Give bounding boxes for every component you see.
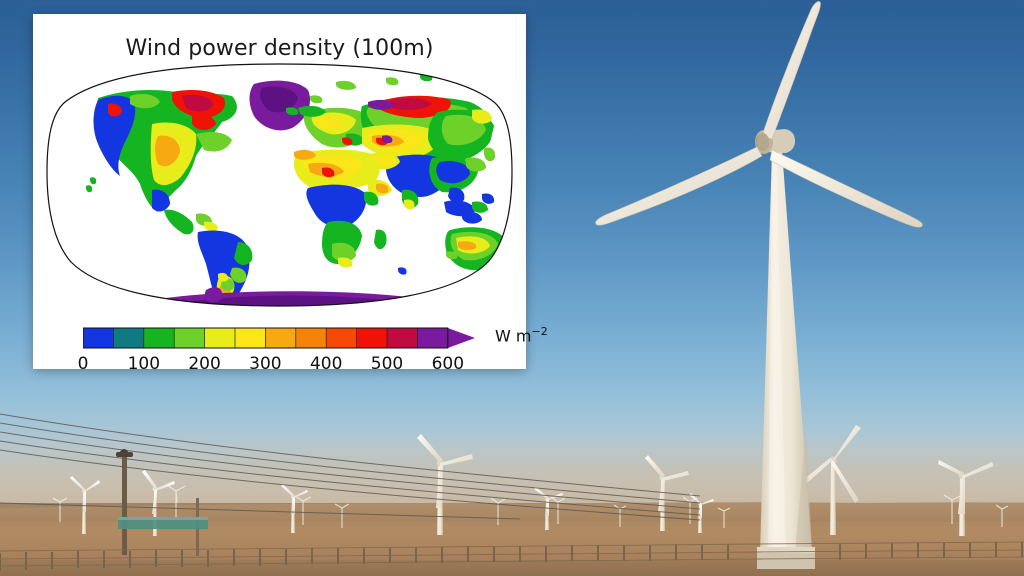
colorbar-tick-100: 100 [128, 354, 160, 374]
colorbar-unit-exponent: −2 [532, 325, 548, 338]
colorbar-swatches [83, 326, 503, 352]
power-lines [0, 414, 700, 520]
figure-title: Wind power density (100m) [33, 36, 526, 61]
colorbar-tick-500: 500 [371, 354, 403, 374]
colorbar-tick-600: 600 [432, 354, 464, 374]
fence [0, 542, 1024, 571]
main-turbine [596, 1, 923, 569]
colorbar-tick-labels: 0 100 200 300 400 500 600 [83, 354, 503, 376]
green-shed [118, 517, 208, 529]
colorbar-unit-text: W m [495, 326, 532, 345]
robinson-map-svg [46, 62, 513, 310]
colorbar: 0 100 200 300 400 500 600 [83, 326, 503, 374]
wind-power-density-figure-panel: Wind power density (100m) [33, 14, 526, 369]
colorbar-unit-label: W m−2 [495, 325, 548, 345]
colorbar-bands [83, 328, 475, 348]
colorbar-tick-0: 0 [78, 354, 89, 374]
screenshot-root: Wind power density (100m) [0, 0, 1024, 576]
utility-pole [116, 449, 133, 555]
colorbar-tick-300: 300 [249, 354, 281, 374]
colorbar-tick-400: 400 [310, 354, 342, 374]
colorbar-tick-200: 200 [188, 354, 220, 374]
world-map [46, 62, 513, 310]
